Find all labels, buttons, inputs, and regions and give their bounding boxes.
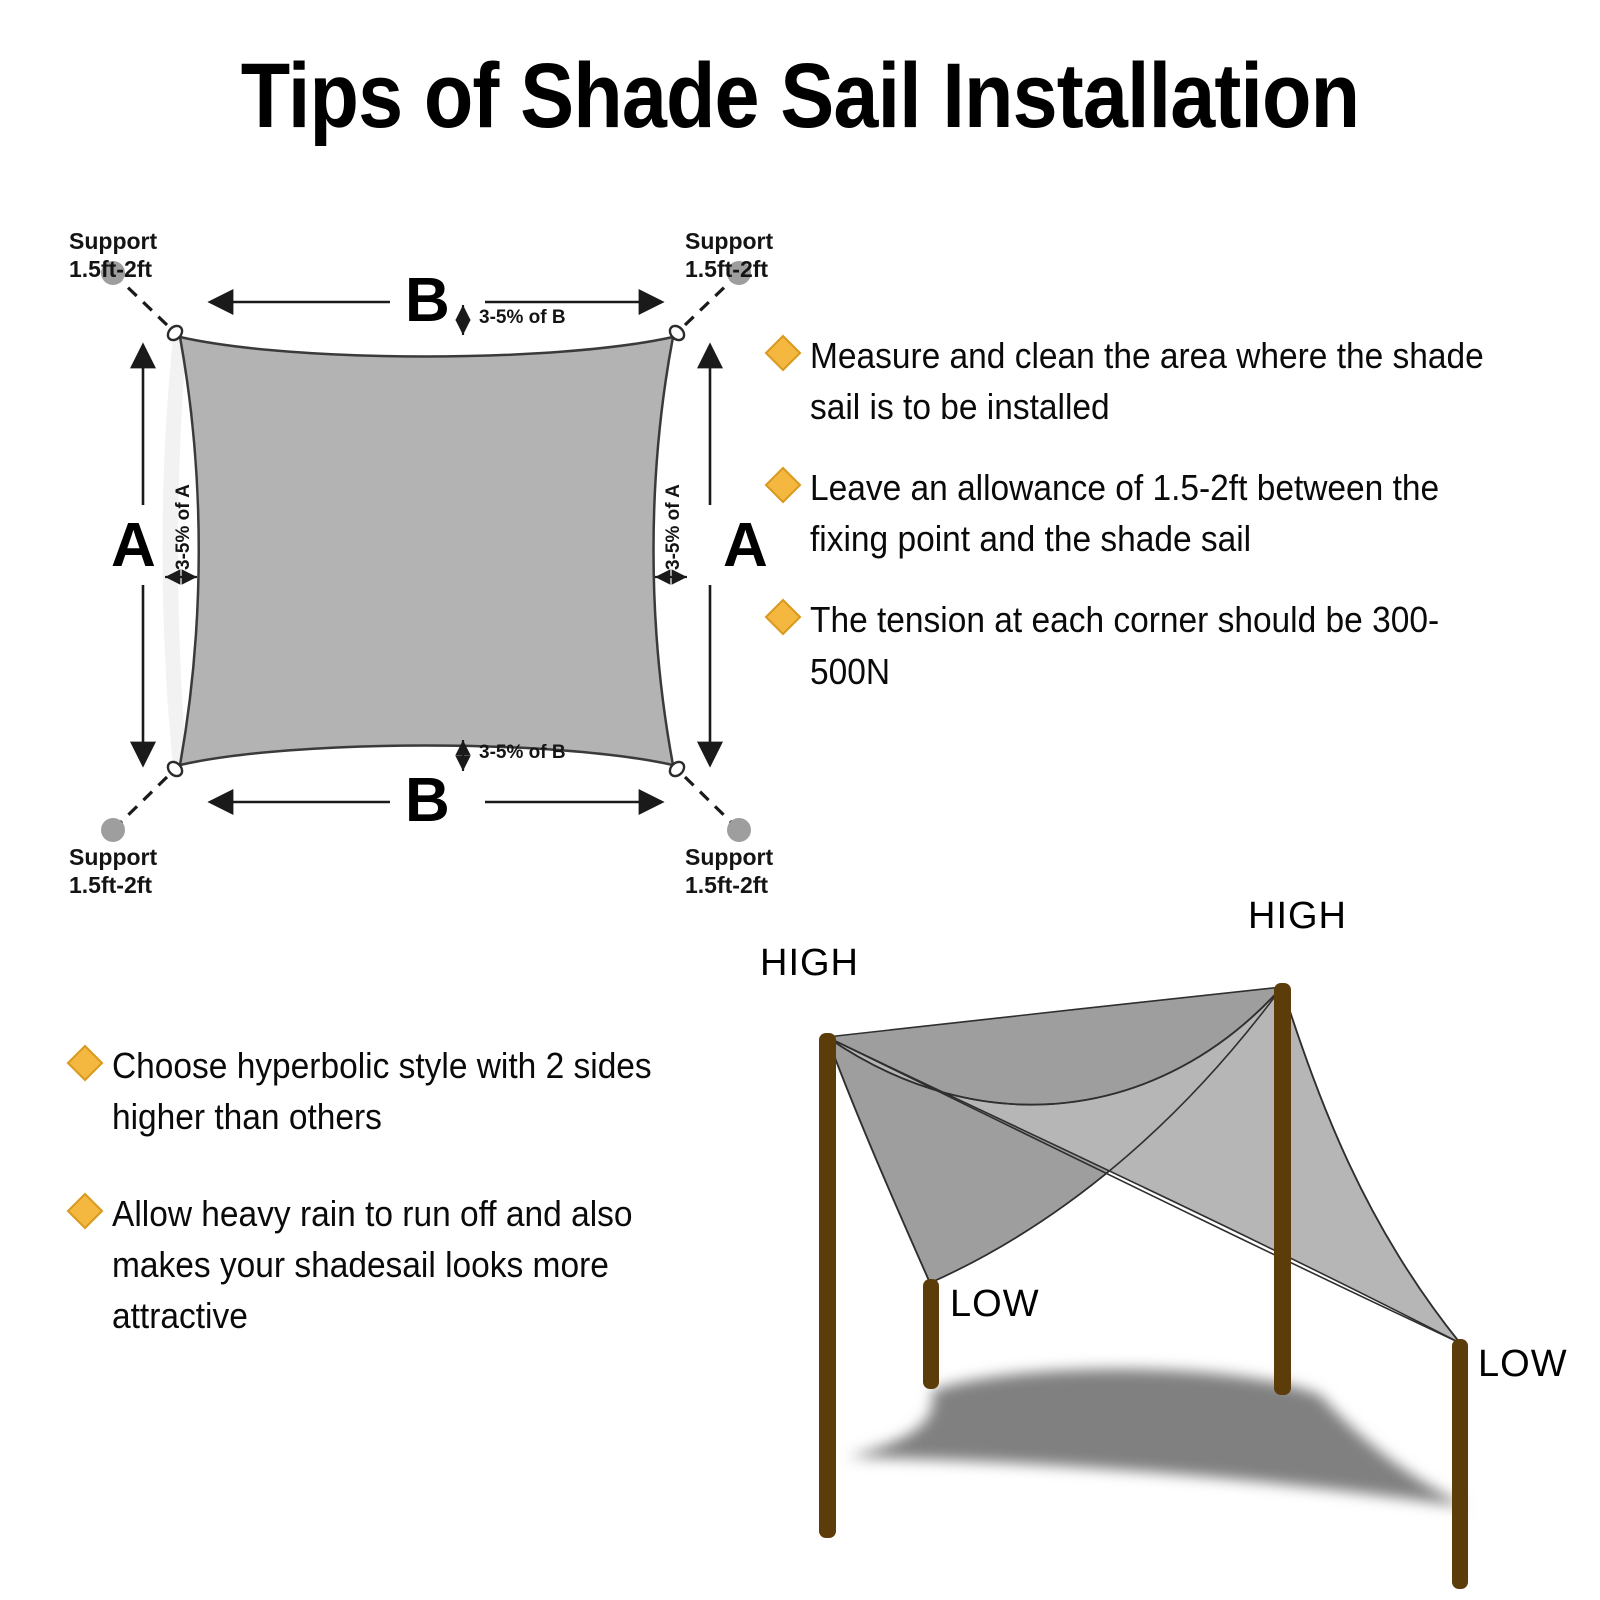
shade-sail-plan-diagram: Support 1.5ft-2ft Support 1.5ft-2ft Supp…: [55, 205, 795, 895]
corner-label-high-right: HIGH: [1248, 895, 1347, 938]
support-label-bottom-right: Support 1.5ft-2ft: [685, 843, 773, 899]
tip-text: Measure and clean the area where the sha…: [810, 330, 1508, 432]
post-low-right: [1452, 1339, 1468, 1589]
post-high-left: [819, 1033, 836, 1538]
support-label-bottom-left: Support 1.5ft-2ft: [69, 843, 157, 899]
diamond-bullet-icon: [67, 1193, 104, 1230]
tips-list-right: Measure and clean the area where the sha…: [770, 330, 1560, 727]
hyperbolic-diagram-svg: [760, 895, 1600, 1595]
corner-label-low-right: LOW: [1478, 1343, 1568, 1386]
list-item: Leave an allowance of 1.5-2ft between th…: [770, 462, 1560, 564]
ground-shadow: [848, 1369, 1468, 1507]
tip-text: The tension at each corner should be 300…: [810, 594, 1508, 696]
list-item: Allow heavy rain to run off and also mak…: [72, 1188, 772, 1341]
list-item: The tension at each corner should be 300…: [770, 594, 1560, 696]
post-low-left: [923, 1279, 939, 1389]
dimension-letter-a-left: A: [111, 515, 156, 577]
curve-label-a-right: 3-5% of A: [663, 484, 685, 570]
corner-label-low-left: LOW: [950, 1283, 1040, 1326]
curve-label-a-left: 3-5% of A: [173, 484, 195, 570]
dimension-letter-b-top: B: [405, 270, 450, 332]
support-label-top-right: Support 1.5ft-2ft: [685, 227, 773, 283]
corner-label-high-left: HIGH: [760, 942, 859, 985]
list-item: Choose hyperbolic style with 2 sides hig…: [72, 1040, 772, 1142]
diamond-bullet-icon: [765, 335, 802, 372]
diamond-bullet-icon: [765, 599, 802, 636]
hyperbolic-shade-sail-diagram: HIGH HIGH LOW LOW: [760, 895, 1600, 1595]
tips-list-bottom: Choose hyperbolic style with 2 sides hig…: [72, 1040, 772, 1388]
tip-text: Leave an allowance of 1.5-2ft between th…: [810, 462, 1508, 564]
dimension-letter-b-bottom: B: [405, 770, 450, 832]
tip-text: Allow heavy rain to run off and also mak…: [112, 1188, 726, 1341]
curve-label-b-top: 3-5% of B: [479, 307, 566, 329]
dimension-letter-a-right: A: [723, 515, 768, 577]
infographic-page: Tips of Shade Sail Installation: [0, 0, 1600, 1600]
list-item: Measure and clean the area where the sha…: [770, 330, 1560, 432]
post-high-right: [1274, 983, 1291, 1395]
page-title: Tips of Shade Sail Installation: [96, 48, 1504, 145]
support-label-top-left: Support 1.5ft-2ft: [69, 227, 157, 283]
curve-label-b-bottom: 3-5% of B: [479, 742, 566, 764]
diamond-bullet-icon: [765, 467, 802, 504]
tip-text: Choose hyperbolic style with 2 sides hig…: [112, 1040, 726, 1142]
diamond-bullet-icon: [67, 1045, 104, 1082]
sail-fabric-shape: [180, 337, 673, 765]
